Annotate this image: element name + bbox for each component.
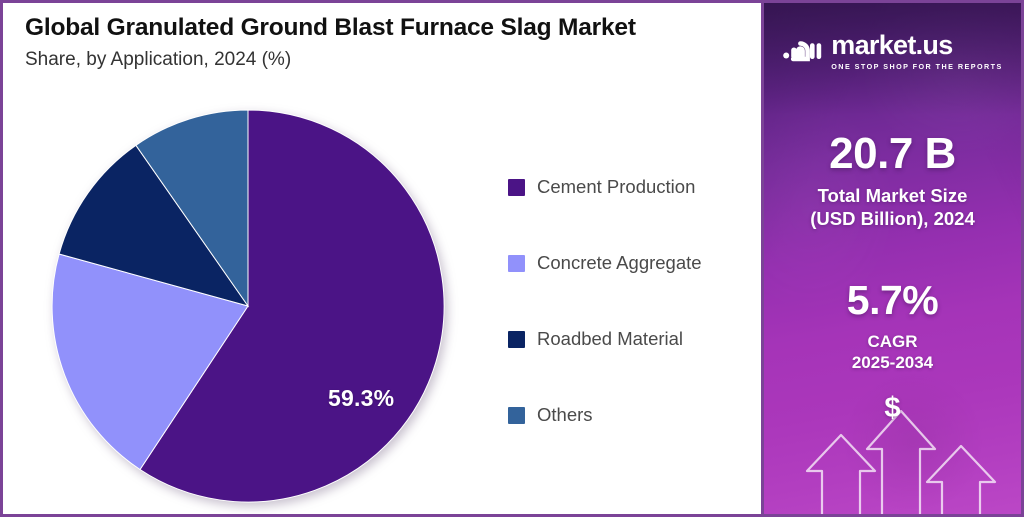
brand-sidebar: market.us ONE STOP SHOP FOR THE REPORTS … <box>764 3 1021 514</box>
legend-item-label: Cement Production <box>537 178 695 197</box>
cagr-caption: CAGR 2025-2034 <box>764 332 1021 373</box>
legend-swatch-icon <box>508 407 525 424</box>
market-size-caption-line1: Total Market Size <box>764 185 1021 208</box>
chart-legend: Cement Production Concrete Aggregate Roa… <box>508 149 758 453</box>
market-size-stat: 20.7 B Total Market Size (USD Billion), … <box>764 131 1021 230</box>
market-share-infographic: Global Granulated Ground Blast Furnace S… <box>0 0 1024 517</box>
cagr-stat: 5.7% CAGR 2025-2034 <box>764 279 1021 374</box>
market-us-logo-icon <box>782 35 822 67</box>
legend-item-others[interactable]: Others <box>508 377 758 453</box>
brand-logo[interactable]: market.us ONE STOP SHOP FOR THE REPORTS <box>764 32 1021 70</box>
pie-chart: 59.3% <box>46 106 450 506</box>
chart-header: Global Granulated Ground Blast Furnace S… <box>25 13 735 72</box>
legend-item-concrete-aggregate[interactable]: Concrete Aggregate <box>508 225 758 301</box>
chart-panel: Global Granulated Ground Blast Furnace S… <box>3 3 760 514</box>
chart-subtitle: Share, by Application, 2024 (%) <box>25 49 735 72</box>
page-title: Global Granulated Ground Blast Furnace S… <box>25 13 735 42</box>
legend-item-label: Others <box>537 406 593 425</box>
legend-item-label: Concrete Aggregate <box>537 254 702 273</box>
legend-swatch-icon <box>508 331 525 348</box>
legend-item-label: Roadbed Material <box>537 330 683 349</box>
market-size-caption: Total Market Size (USD Billion), 2024 <box>764 185 1021 230</box>
legend-item-cement-production[interactable]: Cement Production <box>508 149 758 225</box>
panel-divider <box>761 3 764 514</box>
logo-tagline: ONE STOP SHOP FOR THE REPORTS <box>831 63 1002 70</box>
market-size-value: 20.7 B <box>764 131 1021 177</box>
legend-swatch-icon <box>508 179 525 196</box>
logo-wordmark: market.us <box>831 32 952 59</box>
dollar-symbol-icon: $ <box>764 394 1021 423</box>
growth-arrow-right <box>927 446 995 514</box>
cagr-caption-line1: CAGR <box>764 332 1021 353</box>
legend-item-roadbed-material[interactable]: Roadbed Material <box>508 301 758 377</box>
market-size-caption-line2: (USD Billion), 2024 <box>764 208 1021 231</box>
cagr-value: 5.7% <box>764 279 1021 322</box>
logo-text: market.us ONE STOP SHOP FOR THE REPORTS <box>831 32 1002 70</box>
pie-chart-svg <box>46 106 450 506</box>
legend-swatch-icon <box>508 255 525 272</box>
growth-arrow-left <box>807 435 875 514</box>
pie-slice-value-label: 59.3% <box>328 385 394 412</box>
growth-arrow-center <box>867 411 935 514</box>
cagr-caption-line2: 2025-2034 <box>764 353 1021 374</box>
